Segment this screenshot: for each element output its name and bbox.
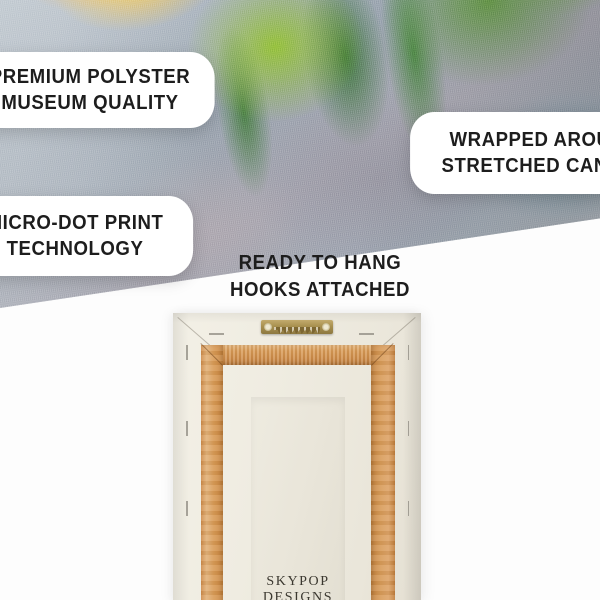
badge-microdot-line1: MICRO-DOT PRINT bbox=[0, 210, 163, 236]
badge-microdot-line2: TECHNOLOGY bbox=[7, 236, 144, 262]
product-infographic: PREMIUM POLYSTER MUSEUM QUALITY WRAPPED … bbox=[0, 0, 600, 600]
badge-wrapped-line2: STRETCHED CANVAS bbox=[442, 153, 600, 179]
wood-grain-top bbox=[201, 345, 395, 365]
canvas-right-shading bbox=[403, 313, 421, 600]
staple-top-left bbox=[209, 333, 224, 335]
sawtooth-hanger-icon bbox=[261, 320, 333, 334]
canvas-inner-field: SKYPOP DESIGNS bbox=[251, 397, 345, 600]
stretched-canvas-back: SKYPOP DESIGNS bbox=[173, 313, 421, 600]
badge-premium-line1: PREMIUM POLYSTER bbox=[0, 64, 190, 90]
staple-left-2 bbox=[186, 421, 188, 436]
badge-microdot: MICRO-DOT PRINT TECHNOLOGY bbox=[0, 196, 193, 276]
badge-premium-line2: MUSEUM QUALITY bbox=[1, 90, 178, 116]
badge-wrapped-line1: WRAPPED AROUND bbox=[450, 127, 600, 153]
staple-top-right bbox=[359, 333, 374, 335]
brand-name: SKYPOP DESIGNS bbox=[251, 574, 345, 600]
hanger-screw-hole-right bbox=[322, 323, 330, 331]
staple-right-2 bbox=[408, 421, 410, 436]
caption-line1: READY TO HANG bbox=[190, 250, 450, 277]
staple-right-1 bbox=[408, 345, 410, 360]
staple-left-1 bbox=[186, 345, 188, 360]
caption-line2: HOOKS ATTACHED bbox=[190, 277, 450, 304]
wood-grain-right bbox=[371, 345, 395, 600]
wood-grain-left bbox=[201, 345, 223, 600]
wooden-stretcher-frame: SKYPOP DESIGNS bbox=[201, 345, 395, 600]
stretcher-bar-top bbox=[201, 345, 395, 365]
badge-wrapped: WRAPPED AROUND STRETCHED CANVAS bbox=[410, 112, 600, 194]
stretcher-bar-right bbox=[371, 345, 395, 600]
ready-to-hang-caption: READY TO HANG HOOKS ATTACHED bbox=[190, 250, 450, 304]
stretcher-bar-left bbox=[201, 345, 223, 600]
badge-premium: PREMIUM POLYSTER MUSEUM QUALITY bbox=[0, 52, 215, 128]
hanger-screw-hole-left bbox=[264, 323, 272, 331]
staple-left-3 bbox=[186, 501, 188, 516]
staple-right-3 bbox=[408, 501, 410, 516]
